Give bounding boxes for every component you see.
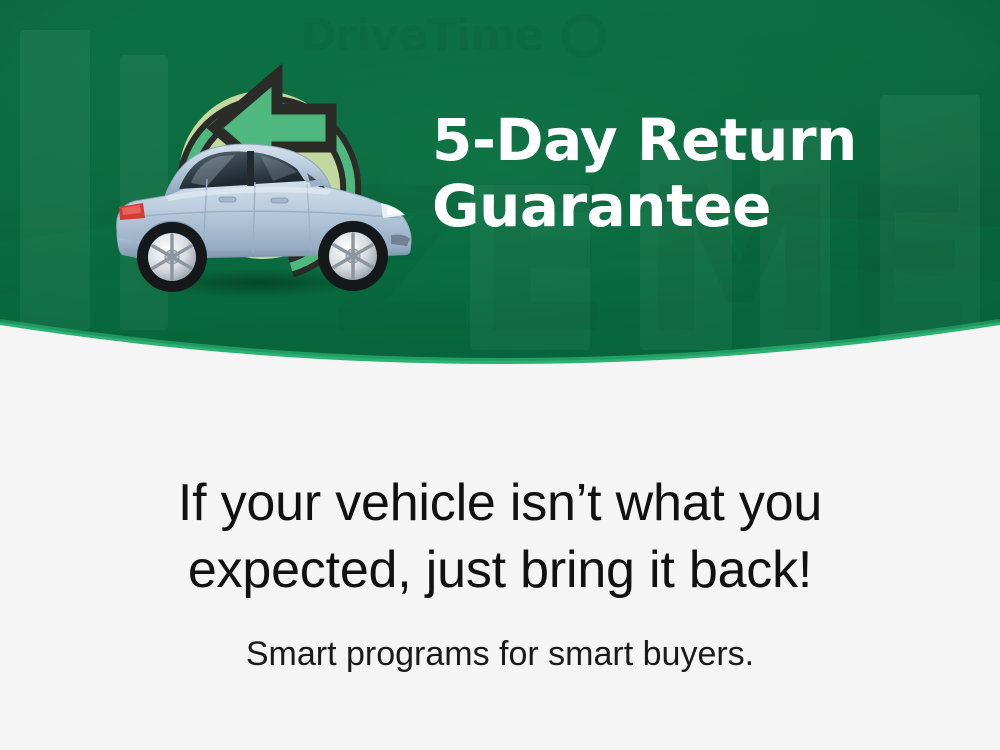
tagline: If your vehicle isn’t what you expected,… (0, 470, 1000, 603)
svg-text:DriveTime: DriveTime (300, 10, 544, 61)
headline-line-1: 5-Day Return (432, 108, 952, 174)
front-wheel (318, 221, 388, 291)
hero-section: ZE ME DriveTime (0, 0, 1000, 400)
rear-wheel (137, 222, 207, 292)
return-artwork (95, 55, 435, 315)
message-section: If your vehicle isn’t what you expected,… (0, 400, 1000, 750)
headline-line-2: Guarantee (432, 174, 952, 240)
tagline-line-1: If your vehicle isn’t what you (0, 470, 1000, 537)
subline: Smart programs for smart buyers. (0, 635, 1000, 674)
hero-headline: 5-Day Return Guarantee (432, 108, 952, 239)
tagline-line-2: expected, just bring it back! (0, 537, 1000, 604)
promo-banner: ZE ME DriveTime (0, 0, 1000, 750)
